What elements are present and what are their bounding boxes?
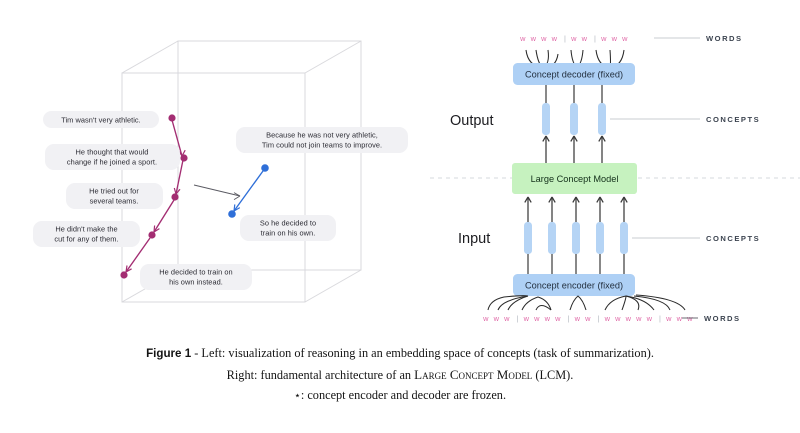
summary-bubble-2-line2: train on his own. xyxy=(261,229,316,238)
caption-line3-body: : concept encoder and decoder are frozen… xyxy=(301,388,506,402)
bottom-word-3: w xyxy=(503,314,510,323)
cube-edge-tr xyxy=(305,41,361,73)
caption-line2-a: fundamental architecture of an xyxy=(257,368,414,382)
caption-line2-prefix: Right: xyxy=(227,368,258,382)
bottom-word-15: w xyxy=(665,314,672,323)
caption-line1-prefix: - Left: xyxy=(191,346,225,360)
top-words-row: wwww|ww|www xyxy=(519,34,628,43)
side-label-input: Input xyxy=(458,231,490,247)
source-bubble-3: He tried out for several teams. xyxy=(66,183,163,209)
bottom-word-2: w xyxy=(493,314,500,323)
concept-encoder-label: Concept encoder (fixed) xyxy=(525,281,623,291)
architecture-svg: wwww|ww|www WORDS Concept decoder (fixed… xyxy=(430,0,800,340)
summary-point-2 xyxy=(228,210,236,218)
bottom-word-12: w xyxy=(625,314,632,323)
top-word-8: w xyxy=(611,34,618,43)
top-word-5: w xyxy=(570,34,577,43)
bottom-word-1: w xyxy=(482,314,489,323)
cube-edge-tl xyxy=(122,41,178,73)
source-bubble-3-line1: He tried out for xyxy=(89,187,139,196)
bottom-word-7: w xyxy=(554,314,561,323)
top-separator-1: | xyxy=(564,34,566,43)
bottom-word-5: w xyxy=(533,314,540,323)
top-word-1: w xyxy=(519,34,526,43)
input-concept-bar-5 xyxy=(620,222,628,254)
source-bubble-1-text: Tim wasn't very athletic. xyxy=(61,116,141,125)
embedding-space-svg: Tim wasn't very athletic. He thought tha… xyxy=(0,0,430,340)
caption-line1-body: visualization of reasoning in an embeddi… xyxy=(225,346,654,360)
bottom-words-row: www|wwww|ww|wwwww|www xyxy=(482,314,693,323)
side-label-output: Output xyxy=(450,113,494,129)
bottom-separator-1: | xyxy=(517,314,519,323)
caption-line2-b: (LCM). xyxy=(532,368,573,382)
top-word-7: w xyxy=(600,34,607,43)
top-separator-2: | xyxy=(594,34,596,43)
summary-point-1 xyxy=(261,164,269,172)
source-point-5 xyxy=(120,271,127,278)
input-concept-bar-2 xyxy=(548,222,556,254)
figure-caption: Figure 1 - Left: visualization of reason… xyxy=(0,344,800,406)
summary-reasoning-chain xyxy=(228,164,269,218)
source-bubble-2-line2: change if he joined a sport. xyxy=(67,158,157,167)
top-word-6: w xyxy=(581,34,588,43)
bottom-word-4: w xyxy=(523,314,530,323)
caption-figure-number: Figure 1 xyxy=(146,347,191,360)
left-panel-embedding-space: Tim wasn't very athletic. He thought tha… xyxy=(0,0,430,340)
top-word-3: w xyxy=(540,34,547,43)
source-bubble-5: He decided to train on his own instead. xyxy=(140,264,252,290)
top-word-2: w xyxy=(530,34,537,43)
input-concept-group xyxy=(524,197,628,274)
bottom-word-8: w xyxy=(574,314,581,323)
concept-decoder-label: Concept decoder (fixed) xyxy=(525,70,623,80)
bottom-separator-2: | xyxy=(568,314,570,323)
top-word-9: w xyxy=(621,34,628,43)
bottom-word-6: w xyxy=(544,314,551,323)
output-concept-bar-2 xyxy=(570,103,578,135)
source-bubble-2-line1: He thought that would xyxy=(76,148,149,157)
source-bubble-4: He didn't make the cut for any of them. xyxy=(33,221,140,247)
large-concept-model-box[interactable]: Large Concept Model xyxy=(512,163,637,194)
output-concept-bar-3 xyxy=(598,103,606,135)
source-point-2 xyxy=(180,154,187,161)
concept-encoder-box[interactable]: Concept encoder (fixed) xyxy=(513,274,635,296)
bottom-separator-4: | xyxy=(659,314,661,323)
source-bubble-5-line1: He decided to train on xyxy=(159,268,232,277)
bottom-word-13: w xyxy=(635,314,642,323)
source-point-4 xyxy=(148,231,155,238)
axis-label-concepts-input: CONCEPTS xyxy=(706,234,760,243)
caption-line-1: Figure 1 - Left: visualization of reason… xyxy=(0,344,800,364)
input-concept-bar-3 xyxy=(572,222,580,254)
bottom-word-10: w xyxy=(604,314,611,323)
cube-wireframe xyxy=(122,41,361,302)
source-point-1 xyxy=(168,114,175,121)
source-bubble-4-line1: He didn't make the xyxy=(55,225,117,234)
axis-label-concepts-output: CONCEPTS xyxy=(706,115,760,124)
summary-bubble-1-line1: Because he was not very athletic, xyxy=(266,131,378,140)
bottom-word-9: w xyxy=(584,314,591,323)
bottom-separator-3: | xyxy=(598,314,600,323)
large-concept-model-label: Large Concept Model xyxy=(531,174,619,184)
bottom-word-11: w xyxy=(614,314,621,323)
source-bubble-4-line2: cut for any of them. xyxy=(54,235,118,244)
source-bubble-3-line2: several teams. xyxy=(90,197,139,206)
figure-container: Tim wasn't very athletic. He thought tha… xyxy=(0,0,800,433)
source-bubble-2: He thought that would change if he joine… xyxy=(45,144,180,170)
input-concept-bar-1 xyxy=(524,222,532,254)
output-concept-bar-1 xyxy=(542,103,550,135)
source-point-3 xyxy=(171,193,178,200)
axis-label-words-bottom: WORDS xyxy=(704,314,741,323)
bottom-word-17: w xyxy=(686,314,693,323)
caption-model-name: Large Concept Model xyxy=(414,367,532,382)
bottom-word-16: w xyxy=(676,314,683,323)
summary-bubble-1-line2: Tim could not join teams to improve. xyxy=(262,141,382,150)
caption-line-3: ⋆: concept encoder and decoder are froze… xyxy=(0,386,800,406)
source-bubble-5-line2: his own instead. xyxy=(169,278,223,287)
right-panel-architecture: wwww|ww|www WORDS Concept decoder (fixed… xyxy=(430,0,800,340)
output-concept-group xyxy=(542,85,606,163)
top-word-4: w xyxy=(551,34,558,43)
summary-bubble-2-line1: So he decided to xyxy=(260,219,316,228)
summary-bubble-1: Because he was not very athletic, Tim co… xyxy=(236,127,408,153)
mapping-arrow xyxy=(194,185,240,200)
summary-bubble-2: So he decided to train on his own. xyxy=(240,215,336,241)
concept-decoder-box[interactable]: Concept decoder (fixed) xyxy=(513,63,635,85)
caption-line-2: Right: fundamental architecture of an La… xyxy=(0,364,800,386)
bottom-word-14: w xyxy=(646,314,653,323)
axis-label-words-top: WORDS xyxy=(706,34,743,43)
source-bubble-1: Tim wasn't very athletic. xyxy=(43,111,159,128)
caption-star-glyph: ⋆ xyxy=(294,389,301,402)
input-concept-bar-4 xyxy=(596,222,604,254)
encoder-word-fan xyxy=(488,295,685,310)
cube-edge-br xyxy=(305,270,361,302)
